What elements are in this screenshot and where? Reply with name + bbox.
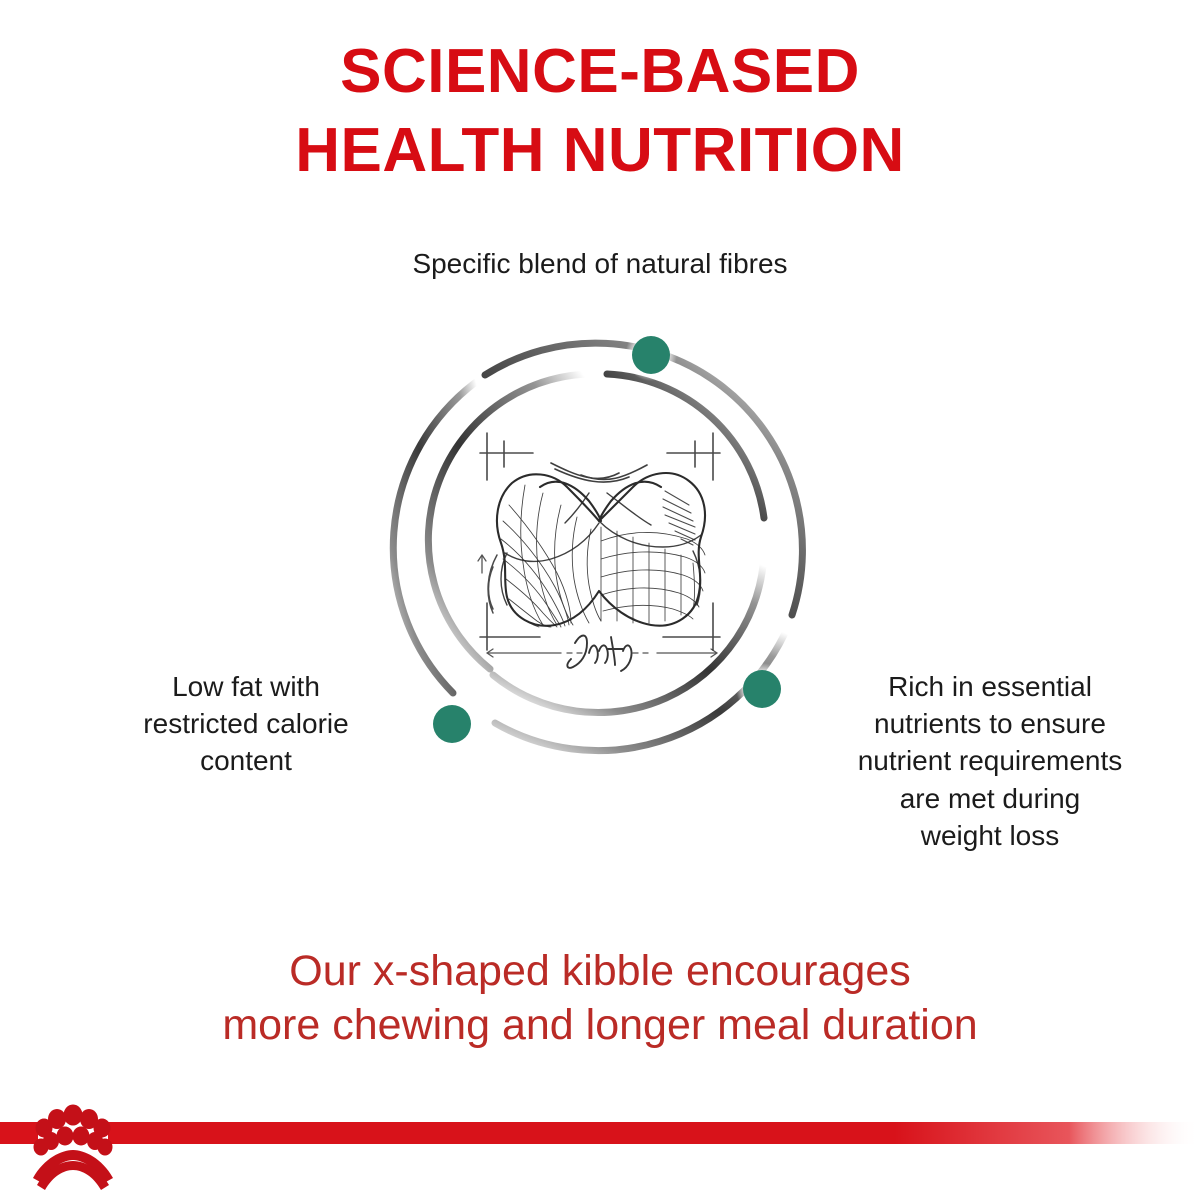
callout-left-line-3: content [96, 742, 396, 779]
kibble-sketch [478, 433, 720, 671]
callout-left: Low fat with restricted calorie content [96, 668, 396, 780]
kibble-diagram [375, 315, 825, 765]
callout-right-line-2: nutrients to ensure [815, 705, 1165, 742]
callout-right-line-4: are met during [815, 780, 1165, 817]
sketch-flourish [551, 463, 647, 482]
callout-right-line-5: weight loss [815, 817, 1165, 854]
callout-top: Specific blend of natural fibres [0, 247, 1200, 281]
callout-right-line-3: nutrient requirements [815, 742, 1165, 779]
footer-bar-left [0, 1122, 38, 1144]
marker-bottom-left [433, 705, 471, 743]
kibble-statement: Our x-shaped kibble encourages more chew… [0, 944, 1200, 1052]
kibble-statement-line-2: more chewing and longer meal duration [0, 998, 1200, 1052]
callout-left-line-2: restricted calorie [96, 705, 396, 742]
callout-right-line-1: Rich in essential [815, 668, 1165, 705]
marker-right [743, 670, 781, 708]
page-title: SCIENCE-BASED HEALTH NUTRITION [0, 32, 1200, 191]
footer-bar-right [108, 1122, 1200, 1144]
kibble-statement-line-1: Our x-shaped kibble encourages [0, 944, 1200, 998]
marketing-infographic: SCIENCE-BASED HEALTH NUTRITION Specific … [0, 0, 1200, 1200]
page-title-line-1: SCIENCE-BASED [0, 32, 1200, 111]
callout-left-line-1: Low fat with [96, 668, 396, 705]
footer-brand-bar [0, 1100, 1200, 1200]
royal-canin-crown [33, 1105, 113, 1191]
callout-top-line-1: Specific blend of natural fibres [0, 247, 1200, 281]
marker-top [632, 336, 670, 374]
callout-right: Rich in essential nutrients to ensure nu… [815, 668, 1165, 854]
dimension-arrows [487, 649, 717, 657]
page-title-line-2: HEALTH NUTRITION [0, 111, 1200, 190]
